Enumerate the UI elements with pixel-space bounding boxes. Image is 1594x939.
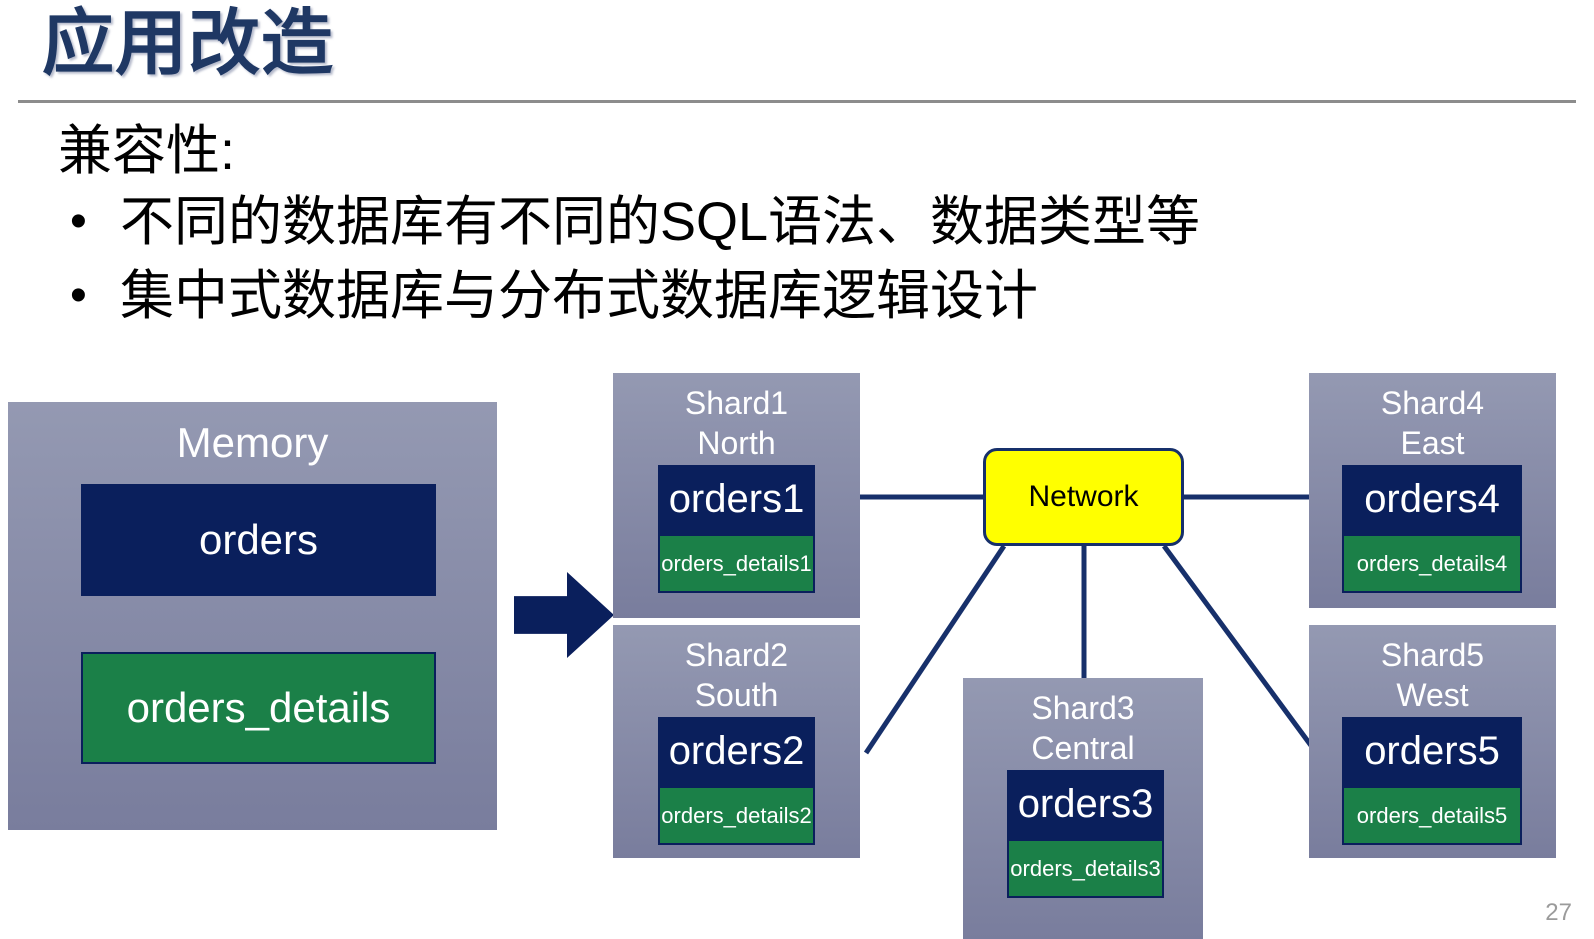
memory-title: Memory bbox=[8, 418, 497, 468]
table-orders4: orders4 bbox=[1342, 465, 1522, 534]
shard3-title: Shard3 Central bbox=[963, 688, 1203, 768]
shard1-title: Shard1 North bbox=[613, 383, 860, 463]
table-orders3: orders3 bbox=[1007, 770, 1164, 839]
page-number: 27 bbox=[1545, 899, 1572, 927]
shard4-name: Shard4 bbox=[1381, 385, 1484, 421]
shard3-region: Central bbox=[1031, 730, 1134, 766]
shard-container-shard3: Shard3 Central orders3 orders_details3 bbox=[963, 678, 1203, 939]
table-orders1: orders1 bbox=[658, 465, 815, 534]
table-orders2: orders2 bbox=[658, 717, 815, 786]
table-orders: orders bbox=[81, 484, 436, 596]
shard5-title: Shard5 West bbox=[1309, 635, 1556, 715]
sharding-diagram: Memory orders orders_details Shard1 Nort… bbox=[0, 0, 1594, 939]
table-orders5: orders5 bbox=[1342, 717, 1522, 786]
shard1-name: Shard1 bbox=[685, 385, 788, 421]
network-node: Network bbox=[983, 448, 1184, 546]
shard2-region: South bbox=[695, 677, 779, 713]
shard-container-shard2: Shard2 South orders2 orders_details2 bbox=[613, 625, 860, 858]
table-orders-details4: orders_details4 bbox=[1342, 534, 1522, 593]
shard5-region: West bbox=[1396, 677, 1468, 713]
shard-container-shard4: Shard4 East orders4 orders_details4 bbox=[1309, 373, 1556, 608]
shard2-name: Shard2 bbox=[685, 637, 788, 673]
table-orders-details3: orders_details3 bbox=[1007, 839, 1164, 898]
shard1-region: North bbox=[697, 425, 775, 461]
memory-container: Memory orders orders_details bbox=[8, 402, 497, 830]
shard4-title: Shard4 East bbox=[1309, 383, 1556, 463]
shard5-name: Shard5 bbox=[1381, 637, 1484, 673]
shard4-region: East bbox=[1400, 425, 1464, 461]
shard3-name: Shard3 bbox=[1031, 690, 1134, 726]
shard-container-shard5: Shard5 West orders5 orders_details5 bbox=[1309, 625, 1556, 858]
shard2-title: Shard2 South bbox=[613, 635, 860, 715]
table-orders-details1: orders_details1 bbox=[658, 534, 815, 593]
table-orders-details: orders_details bbox=[81, 652, 436, 764]
table-orders-details5: orders_details5 bbox=[1342, 786, 1522, 845]
shard-container-shard1: Shard1 North orders1 orders_details1 bbox=[613, 373, 860, 618]
table-orders-details2: orders_details2 bbox=[658, 786, 815, 845]
